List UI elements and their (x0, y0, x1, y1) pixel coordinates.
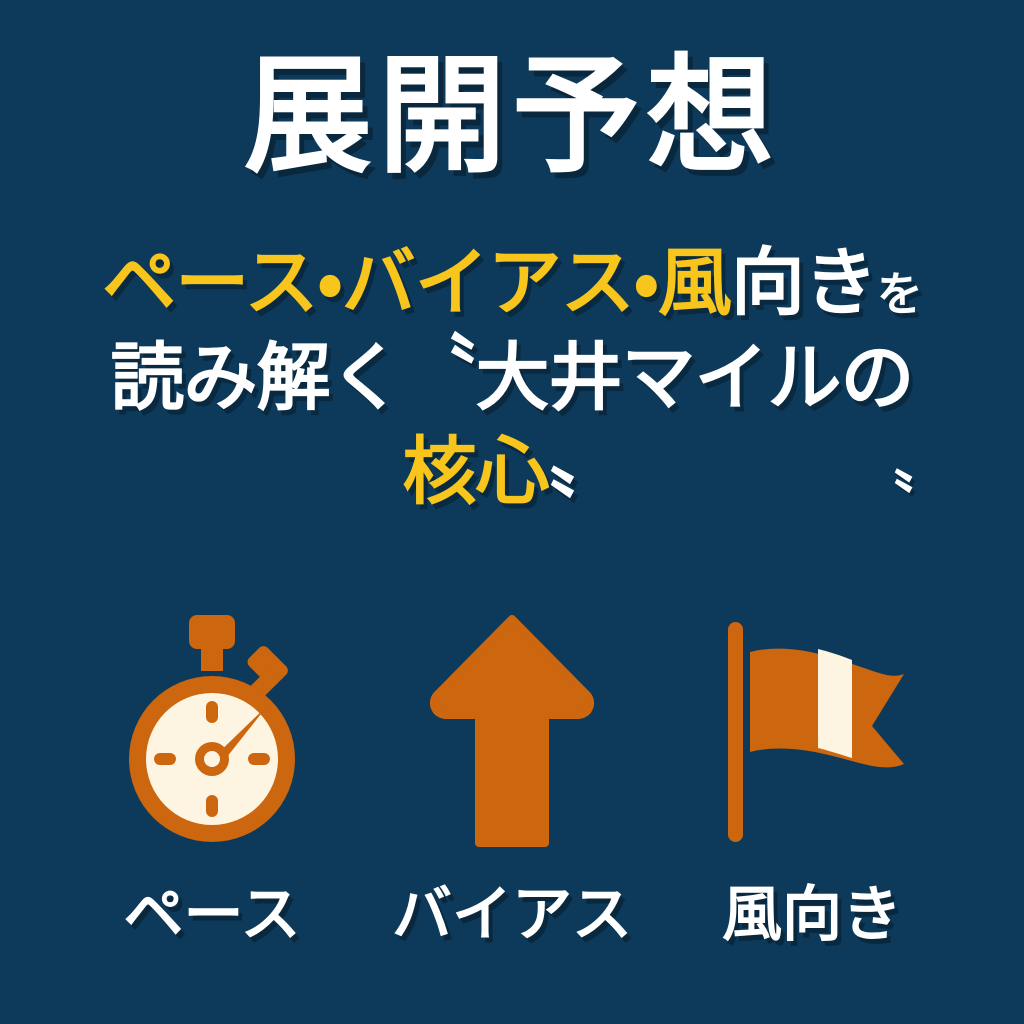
title-block: 展開予想 (0, 48, 1024, 186)
flag-icon (712, 616, 912, 846)
subtitle-line-1-white: 向き (731, 241, 877, 324)
subtitle-block: ペース・バイアス・風向きを 読み解く〝大井マイルの 核心〟 (0, 236, 1024, 520)
label-cell-pace: ペース (62, 866, 362, 953)
icon-label-bias: バイアス (392, 881, 632, 948)
icon-label-wind: 風向き (722, 881, 902, 948)
subtitle-line-1-accent: ペース・バイアス・風 (102, 241, 731, 324)
icon-label-row: ペース バイアス 風向き (0, 866, 1024, 953)
subtitle-line-2: 読み解く〝大井マイルの (0, 331, 1024, 426)
icon-cell-wind (662, 606, 962, 856)
page-title: 展開予想 (244, 48, 780, 186)
subtitle-line-3-accent: 核心 (403, 430, 549, 513)
subtitle-line-2-lead: 読み解く (111, 336, 403, 419)
subtitle-line-2-rest: 大井マイルの (476, 336, 914, 419)
open-quote-mark: 〝 (403, 323, 476, 418)
subtitle-line-3: 核心〟 (0, 425, 1024, 520)
poster-canvas: 展開予想 ペース・バイアス・風向きを 読み解く〝大井マイルの 核心〟 〟 (0, 0, 1024, 1024)
label-cell-wind: 風向き (662, 866, 962, 953)
up-arrow-icon (427, 615, 597, 847)
icon-label-pace: ペース (124, 881, 301, 948)
icon-cell-pace (62, 606, 362, 856)
icon-cell-bias (362, 606, 662, 856)
close-quote-mark: 〟 (549, 418, 622, 513)
subtitle-line-1: ペース・バイアス・風向きを (0, 236, 1024, 331)
stopwatch-icon (107, 611, 317, 851)
stray-quote-mark: 〟 (893, 440, 949, 496)
icon-row (0, 606, 1024, 876)
label-cell-bias: バイアス (362, 866, 662, 953)
subtitle-line-1-particle: を (877, 268, 922, 320)
